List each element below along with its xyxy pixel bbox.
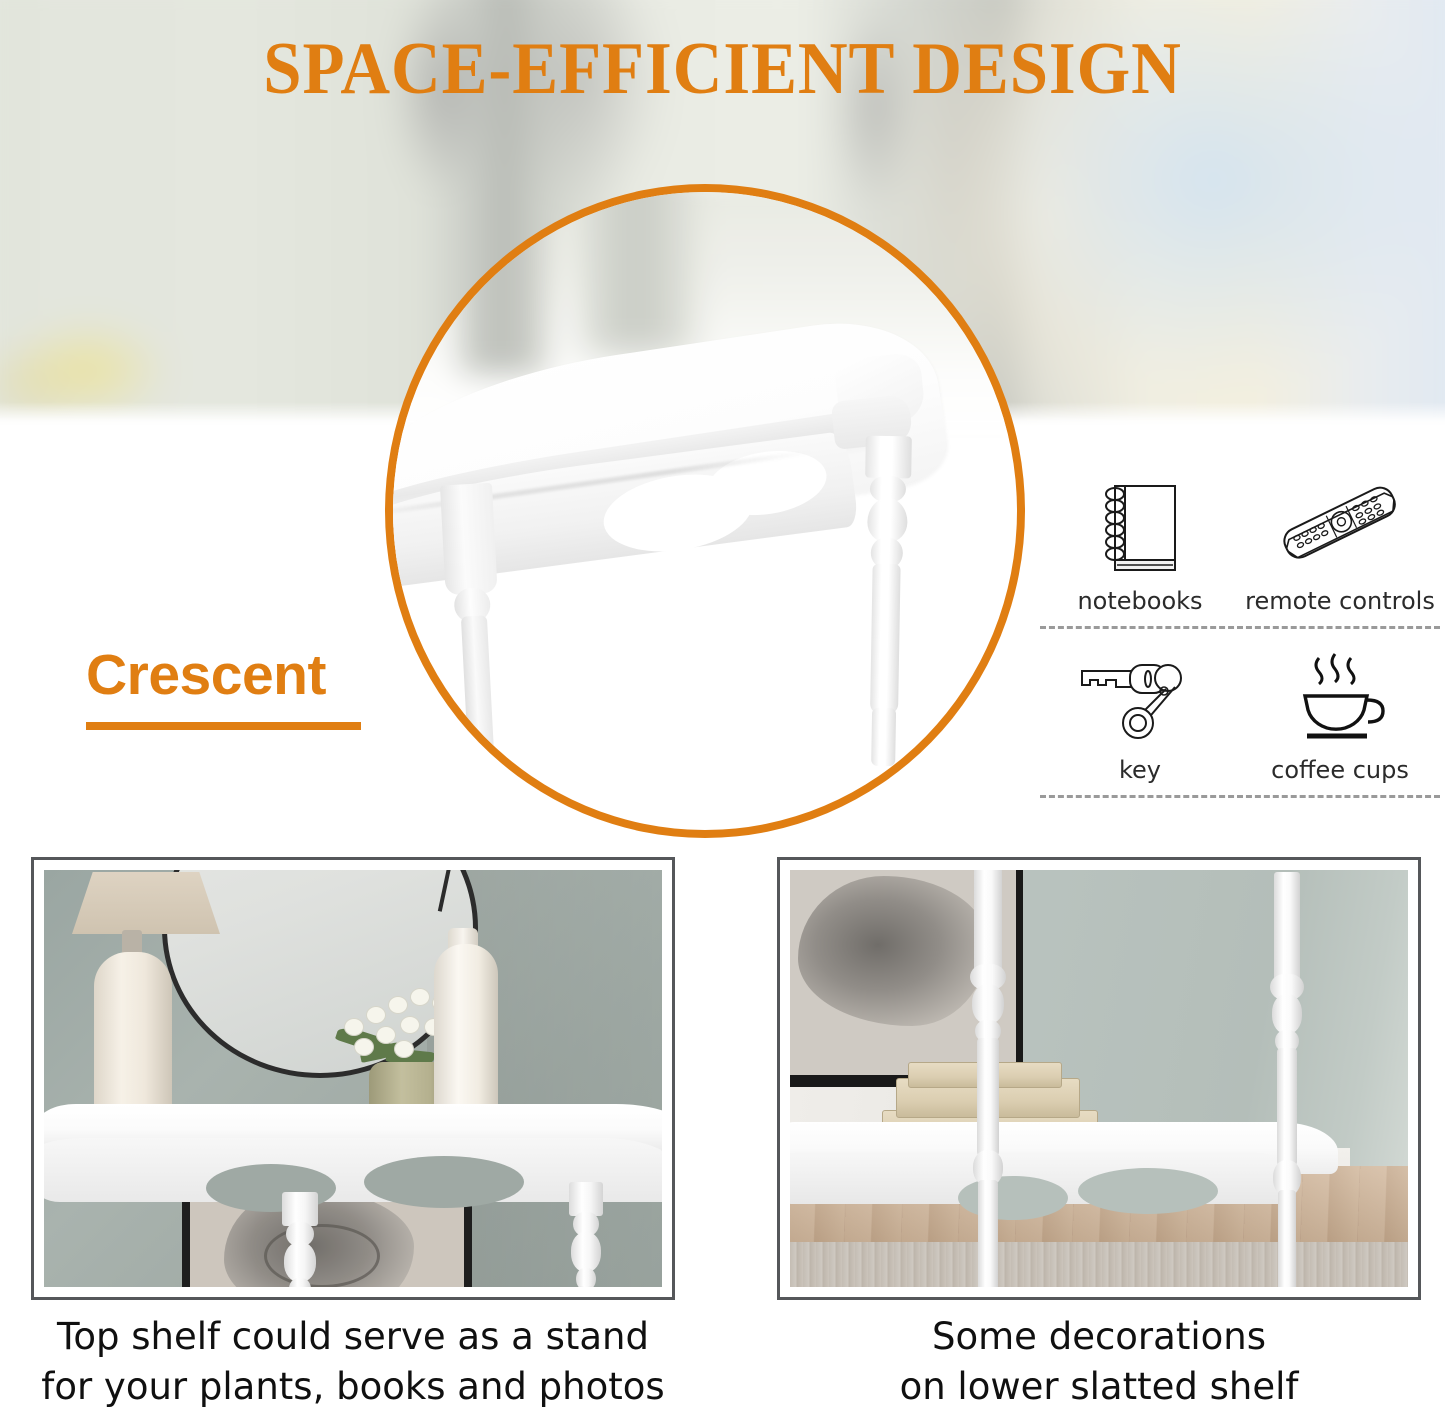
storage-items-grid: notebooks [1040,472,1440,810]
circle-content [385,184,1025,838]
crescent-label: Crescent [86,644,361,706]
storage-item-label: remote controls [1245,586,1435,616]
top-shelf-caption: Top shelf could serve as a stand for you… [20,1312,686,1412]
divider-dashed-1 [1040,626,1440,629]
console-leg-front [282,1192,318,1287]
divider-dashed-2 [1040,795,1440,798]
console-leg-side [569,1182,603,1287]
notebook-icon [1097,472,1183,584]
lower-shelf-leg-front [970,870,1006,1287]
storage-item-key: key [1040,641,1240,791]
storage-item-coffee-cups: coffee cups [1240,641,1440,791]
turned-leg-right [860,436,912,767]
lower-shelf-leg-side [1270,872,1304,1287]
storage-items-row-2: key coffee cups [1040,641,1440,791]
area-rug [790,1242,1408,1287]
lower-shelf-photo-frame [777,857,1421,1300]
caption-line: on lower slatted shelf [766,1362,1432,1412]
storage-items-row-1: notebooks [1040,472,1440,622]
top-shelf-photo-frame [31,857,675,1300]
page-title: SPACE-EFFICIENT DESIGN [51,26,1395,112]
storage-item-label: coffee cups [1271,755,1409,785]
crescent-underline [86,722,361,730]
product-detail-circle [385,184,1025,838]
caption-line: for your plants, books and photos [20,1362,686,1412]
crescent-badge: Crescent [86,644,361,730]
storage-item-label: notebooks [1077,586,1202,616]
remote-control-icon [1265,472,1415,584]
lamp-shade [72,872,220,934]
storage-item-label: key [1119,755,1161,785]
key-icon [1076,641,1204,753]
top-shelf-photo [44,870,662,1287]
crescent-table-closeup [385,184,1009,822]
lower-shelf-photo [790,870,1408,1287]
coffee-cup-icon [1285,641,1395,753]
infographic-root: SPACE-EFFICIENT DESIGN [0,0,1445,1422]
lower-shelf-caption: Some decorations on lower slatted shelf [766,1312,1432,1412]
storage-item-notebooks: notebooks [1040,472,1240,622]
caption-line: Top shelf could serve as a stand [20,1312,686,1362]
lower-shelf-scalloped-edge [790,1152,1298,1204]
ceramic-vase [434,944,498,1122]
caption-line: Some decorations [766,1312,1432,1362]
storage-item-remote-controls: remote controls [1240,472,1440,622]
